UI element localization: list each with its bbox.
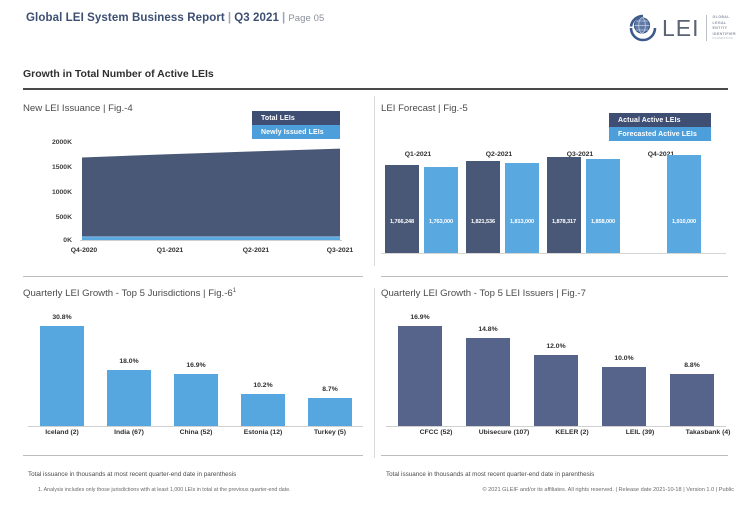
bar-value-china: 16.9% — [174, 362, 218, 369]
y-tick-1000k: 1000K — [36, 189, 72, 196]
bar-q3-2021-actual: 1,878,317 — [547, 157, 581, 253]
chart-fig7-baseline — [386, 426, 726, 427]
bar-value-q2-2021-forecast: 1,813,000 — [505, 219, 539, 225]
bar-value-q4-2021-forecast: 1,910,000 — [667, 219, 701, 225]
bar-leil: 10.0% — [602, 367, 646, 426]
bar-value-estonia: 10.2% — [241, 382, 285, 389]
page-number: Page 05 — [288, 13, 324, 24]
chart-fig6-baseline — [28, 426, 363, 427]
bar-value-q1-2021-forecast: 1,763,000 — [424, 219, 458, 225]
x-label-q2-2021: Q2-2021 — [228, 247, 284, 254]
page-copyright: © 2021 GLEIF and/or its affiliates. All … — [482, 487, 734, 493]
bar-q4-2021-forecast: 1,910,000 — [667, 155, 701, 253]
logo-tagline-line-3: ENTITY — [713, 26, 736, 30]
section-title: Growth in Total Number of Active LEIs — [23, 68, 214, 80]
chart-fig6-title: Quarterly LEI Growth - Top 5 Jurisdictio… — [23, 288, 236, 299]
bar-value-q3-2021-forecast: 1,858,000 — [586, 219, 620, 225]
chart-fig7-note: Total issuance in thousands at most rece… — [386, 471, 594, 478]
chart-fig4-legend: Total LEIs Newly Issued LEIs — [252, 111, 340, 139]
panel-divider-bottom-left — [23, 455, 363, 456]
panel-divider-vertical-top — [374, 96, 375, 266]
section-divider — [23, 88, 728, 90]
bar-q1-2021-forecast: 1,763,000 — [424, 167, 458, 253]
panel-divider-horizontal-right — [381, 276, 728, 277]
bar-china: 16.9% — [174, 374, 218, 426]
x-label-q3-2021: Q3-2021 — [312, 247, 368, 254]
legend-item-newly-issued-leis: Newly Issued LEIs — [252, 125, 340, 139]
bar-q3-2021-forecast: 1,858,000 — [586, 159, 620, 253]
logo-tagline: GLOBAL LEGAL ENTITY IDENTIFIER FOUNDATIO… — [713, 15, 736, 40]
bar-value-takasbank: 8.8% — [670, 362, 714, 369]
chart-fig5-title: LEI Forecast | Fig.-5 — [381, 103, 468, 114]
globe-icon — [626, 11, 660, 45]
bar-value-iceland: 30.8% — [40, 314, 84, 321]
group-label-q2-2021: Q2-2021 — [466, 151, 532, 158]
chart-fig5-baseline — [381, 253, 726, 254]
legend-item-forecasted-active-leis: Forecasted Active LEIs — [609, 127, 711, 141]
y-tick-1500k: 1500K — [36, 164, 72, 171]
report-page: Global LEI System Business Report|Q3 202… — [0, 0, 750, 510]
panel-divider-bottom-right — [381, 455, 728, 456]
chart-fig4-plot-area — [82, 144, 340, 240]
bar-takasbank: 8.8% — [670, 374, 714, 426]
y-tick-2000k: 2000K — [36, 139, 72, 146]
logo-wordmark: LEI — [662, 17, 700, 40]
bar-q2-2021-forecast: 1,813,000 — [505, 163, 539, 253]
chart-fig7: Quarterly LEI Growth - Top 5 LEI Issuers… — [381, 288, 586, 299]
bar-iceland: 30.8% — [40, 326, 84, 426]
bar-turkey: 8.7% — [308, 398, 352, 426]
x-label-q4-2020: Q4-2020 — [56, 247, 112, 254]
bar-value-cfcc: 16.9% — [398, 314, 442, 321]
chart-fig4: New LEI Issuance | Fig.-4 — [23, 103, 133, 114]
bar-value-leil: 10.0% — [602, 355, 646, 362]
x-label-takasbank: Takasbank (4) — [628, 429, 750, 436]
x-label-q1-2021: Q1-2021 — [142, 247, 198, 254]
logo-tagline-line-1: GLOBAL — [713, 15, 736, 19]
bar-q1-2021-actual: 1,766,248 — [385, 165, 419, 253]
report-title: Global LEI System Business Report — [26, 12, 225, 24]
area-series-total-leis — [82, 149, 340, 237]
chart-fig4-title: New LEI Issuance | Fig.-4 — [23, 103, 133, 114]
title-separator-2: | — [279, 12, 288, 24]
chart-fig5-plot-area: 1,766,248 1,763,000 1,821,536 1,813,000 … — [381, 165, 726, 253]
bar-value-ubisecure: 14.8% — [466, 326, 510, 333]
chart-fig5-legend: Actual Active LEIs Forecasted Active LEI… — [609, 113, 711, 141]
page-title: Global LEI System Business Report|Q3 202… — [26, 12, 324, 24]
chart-fig6-plot-area: 30.8% 18.0% 16.9% 10.2% 8.7% — [28, 308, 363, 426]
chart-fig6: Quarterly LEI Growth - Top 5 Jurisdictio… — [23, 288, 236, 299]
bar-india: 18.0% — [107, 370, 151, 426]
chart-fig6-title-text: Quarterly LEI Growth - Top 5 Jurisdictio… — [23, 288, 233, 299]
chart-fig7-plot-area: 16.9% 14.8% 12.0% 10.0% 8.8% — [386, 308, 726, 426]
legend-item-actual-active-leis: Actual Active LEIs — [609, 113, 711, 127]
chart-fig6-note: Total issuance in thousands at most rece… — [28, 471, 236, 478]
bar-value-india: 18.0% — [107, 358, 151, 365]
legend-item-total-leis: Total LEIs — [252, 111, 340, 125]
logo-divider — [706, 15, 707, 41]
title-separator-1: | — [225, 12, 234, 24]
report-quarter: Q3 2021 — [234, 12, 279, 24]
bar-value-keler: 12.0% — [534, 343, 578, 350]
page-footnote: 1. Analysis includes only those jurisdic… — [38, 487, 291, 493]
bar-value-q3-2021-actual: 1,878,317 — [547, 219, 581, 225]
bar-estonia: 10.2% — [241, 394, 285, 426]
logo-tagline-foundation: FOUNDATION — [713, 37, 736, 40]
bar-keler: 12.0% — [534, 355, 578, 426]
chart-fig6-footnote-marker: 1 — [233, 288, 236, 294]
bar-value-q2-2021-actual: 1,821,536 — [466, 219, 500, 225]
y-tick-0k: 0K — [36, 237, 72, 244]
bar-q2-2021-actual: 1,821,536 — [466, 161, 500, 253]
logo-tagline-line-2: LEGAL — [713, 21, 736, 25]
logo-tagline-line-4: IDENTIFIER — [713, 32, 736, 36]
chart-fig4-baseline — [80, 240, 342, 241]
chart-fig7-title: Quarterly LEI Growth - Top 5 LEI Issuers… — [381, 288, 586, 299]
bar-cfcc: 16.9% — [398, 326, 442, 426]
gleif-logo: LEI GLOBAL LEGAL ENTITY IDENTIFIER FOUND… — [626, 10, 736, 46]
group-label-q1-2021: Q1-2021 — [385, 151, 451, 158]
panel-divider-horizontal-left — [23, 276, 363, 277]
page-header: Global LEI System Business Report|Q3 202… — [0, 0, 750, 52]
y-tick-500k: 500K — [36, 214, 72, 221]
bar-value-q1-2021-actual: 1,766,248 — [385, 219, 419, 225]
bar-ubisecure: 14.8% — [466, 338, 510, 426]
chart-fig5: LEI Forecast | Fig.-5 — [381, 103, 468, 114]
bar-value-turkey: 8.7% — [308, 386, 352, 393]
